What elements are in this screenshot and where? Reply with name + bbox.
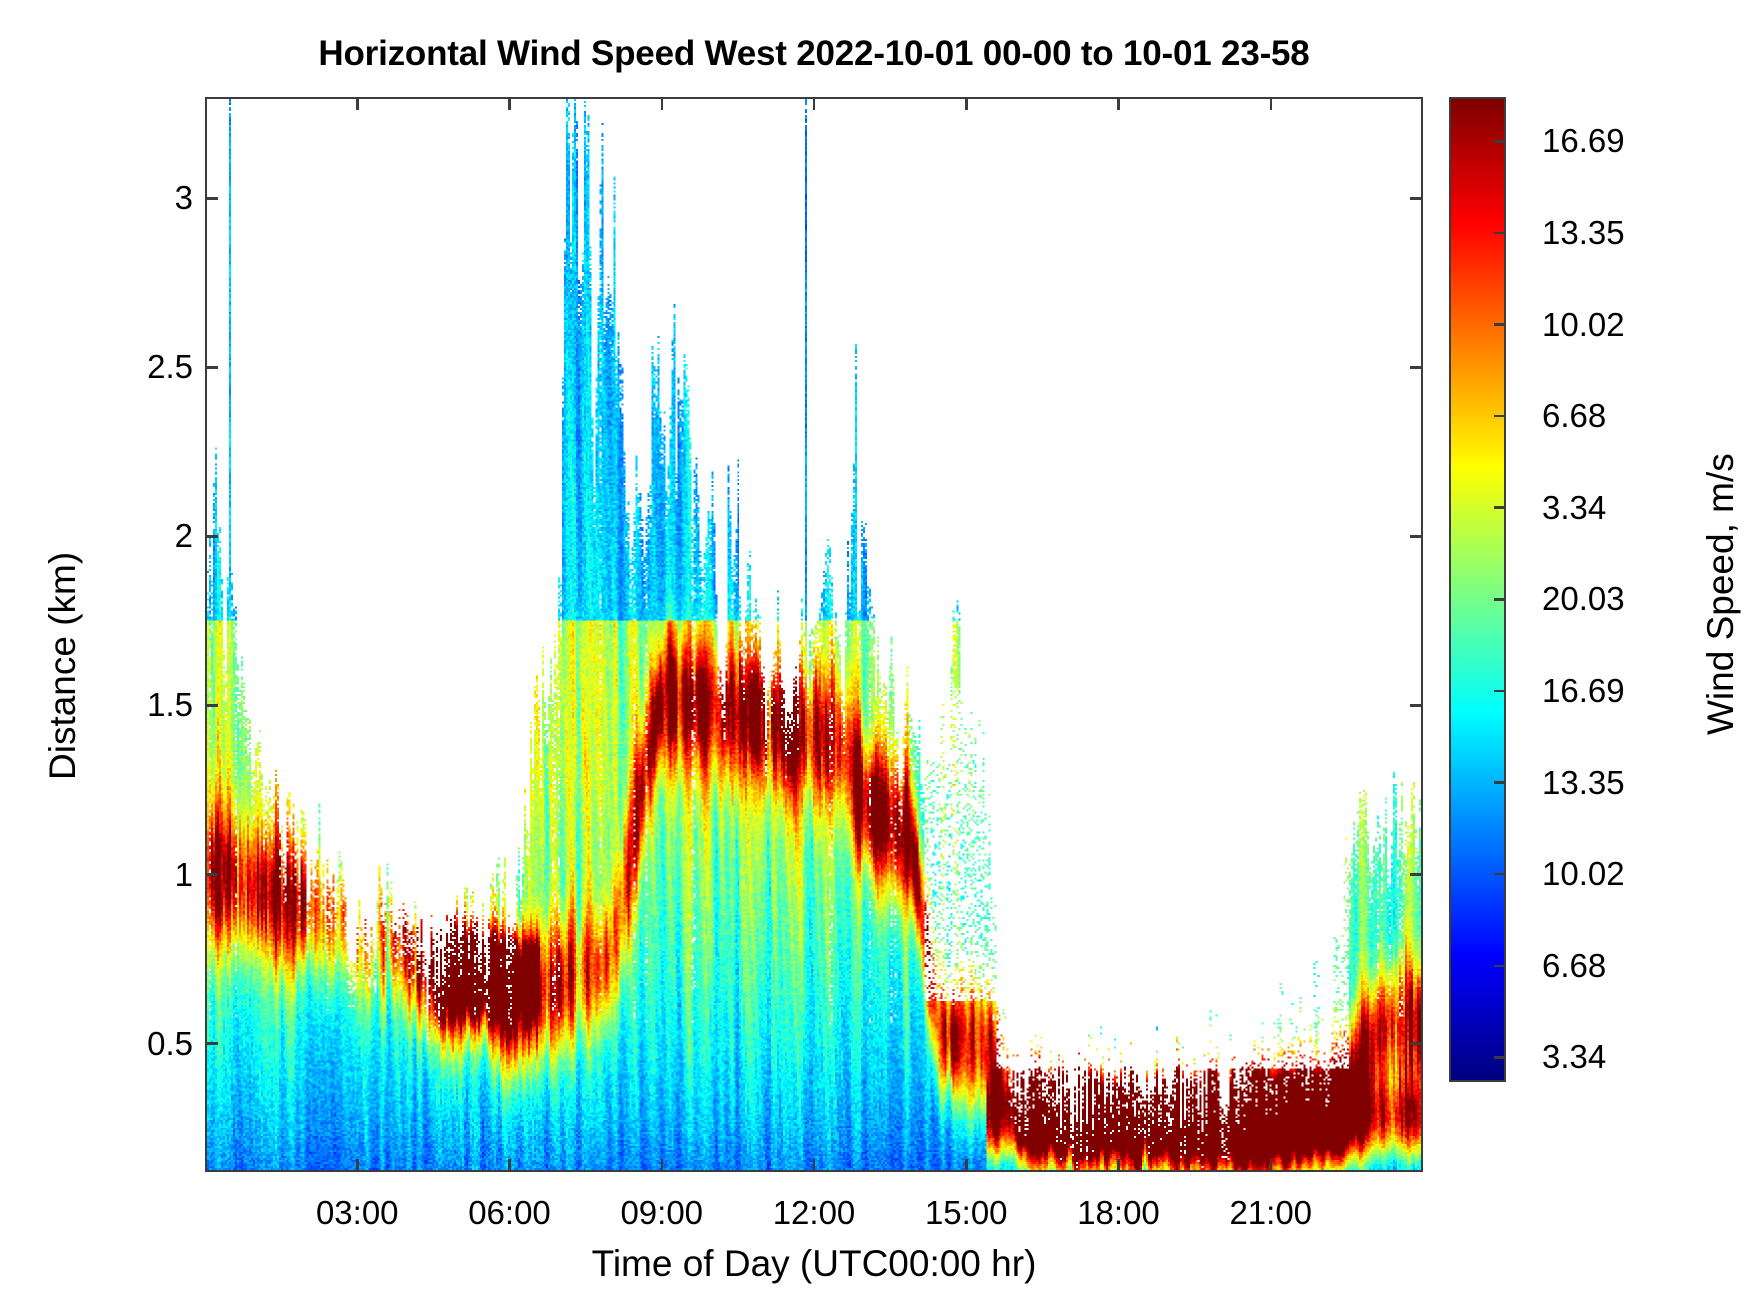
x-tick-label: 15:00: [925, 1194, 1008, 1232]
colorbar-tick-label: 10.02: [1542, 306, 1625, 344]
y-tick-mark: [205, 704, 218, 707]
x-tick-mark: [1270, 97, 1273, 110]
colorbar-tick-mark: [1494, 873, 1506, 876]
x-tick-mark: [965, 97, 968, 110]
colorbar-tick-mark: [1494, 965, 1506, 968]
y-tick-mark: [1410, 366, 1423, 369]
y-tick-mark: [205, 197, 218, 200]
y-tick-label: 2.5: [33, 348, 193, 386]
y-tick-mark: [205, 873, 218, 876]
y-tick-mark: [205, 535, 218, 538]
x-tick-label: 18:00: [1077, 1194, 1160, 1232]
y-tick-label: 2: [33, 517, 193, 555]
x-tick-mark: [1117, 97, 1120, 110]
colorbar-tick-mark: [1494, 690, 1506, 693]
page-title: Horizontal Wind Speed West 2022-10-01 00…: [205, 34, 1423, 74]
colorbar-gradient: [1451, 99, 1504, 1080]
y-tick-label: 0.5: [33, 1025, 193, 1063]
x-tick-mark: [508, 97, 511, 110]
colorbar-tick-mark: [1494, 415, 1506, 418]
x-axis-title: Time of Day (UTC00:00 hr): [205, 1243, 1423, 1285]
y-tick-mark: [1410, 704, 1423, 707]
colorbar-tick-label: 6.68: [1542, 947, 1606, 985]
x-tick-mark: [1117, 1159, 1120, 1172]
x-tick-label: 06:00: [468, 1194, 551, 1232]
x-tick-mark: [813, 97, 816, 110]
x-tick-label: 12:00: [773, 1194, 856, 1232]
colorbar-tick-mark: [1494, 781, 1506, 784]
wind-speed-figure: Horizontal Wind Speed West 2022-10-01 00…: [0, 0, 1750, 1313]
colorbar-tick-label: 6.68: [1542, 397, 1606, 435]
x-tick-mark: [508, 1159, 511, 1172]
colorbar-tick-label: 16.69: [1542, 672, 1625, 710]
colorbar-title: Wind Speed, m/s: [1700, 453, 1742, 735]
y-tick-mark: [1410, 873, 1423, 876]
y-tick-mark: [1410, 535, 1423, 538]
colorbar[interactable]: [1449, 97, 1506, 1082]
x-tick-label: 03:00: [316, 1194, 399, 1232]
colorbar-tick-label: 16.69: [1542, 122, 1625, 160]
colorbar-tick-label: 13.35: [1542, 764, 1625, 802]
heatmap-plot-area[interactable]: [205, 97, 1423, 1172]
x-tick-label: 09:00: [620, 1194, 703, 1232]
x-tick-mark: [965, 1159, 968, 1172]
x-tick-mark: [661, 1159, 664, 1172]
colorbar-tick-mark: [1494, 598, 1506, 601]
colorbar-tick-mark: [1494, 1056, 1506, 1059]
colorbar-tick-mark: [1494, 323, 1506, 326]
colorbar-tick-label: 3.34: [1542, 489, 1606, 527]
colorbar-tick-label: 10.02: [1542, 855, 1625, 893]
x-tick-mark: [356, 97, 359, 110]
colorbar-tick-label: 3.34: [1542, 1038, 1606, 1076]
x-tick-mark: [661, 97, 664, 110]
colorbar-tick-mark: [1494, 506, 1506, 509]
y-tick-mark: [1410, 1042, 1423, 1045]
x-tick-mark: [356, 1159, 359, 1172]
x-tick-label: 21:00: [1229, 1194, 1312, 1232]
colorbar-tick-mark: [1494, 232, 1506, 235]
x-tick-mark: [1270, 1159, 1273, 1172]
colorbar-tick-label: 13.35: [1542, 214, 1625, 252]
x-tick-mark: [813, 1159, 816, 1172]
y-tick-label: 1: [33, 856, 193, 894]
colorbar-tick-mark: [1494, 140, 1506, 143]
heatmap-canvas[interactable]: [207, 99, 1421, 1170]
y-tick-mark: [1410, 197, 1423, 200]
y-axis-title: Distance (km): [42, 551, 84, 779]
y-tick-mark: [205, 1042, 218, 1045]
y-tick-label: 3: [33, 179, 193, 217]
colorbar-tick-label: 20.03: [1542, 580, 1625, 618]
y-tick-mark: [205, 366, 218, 369]
